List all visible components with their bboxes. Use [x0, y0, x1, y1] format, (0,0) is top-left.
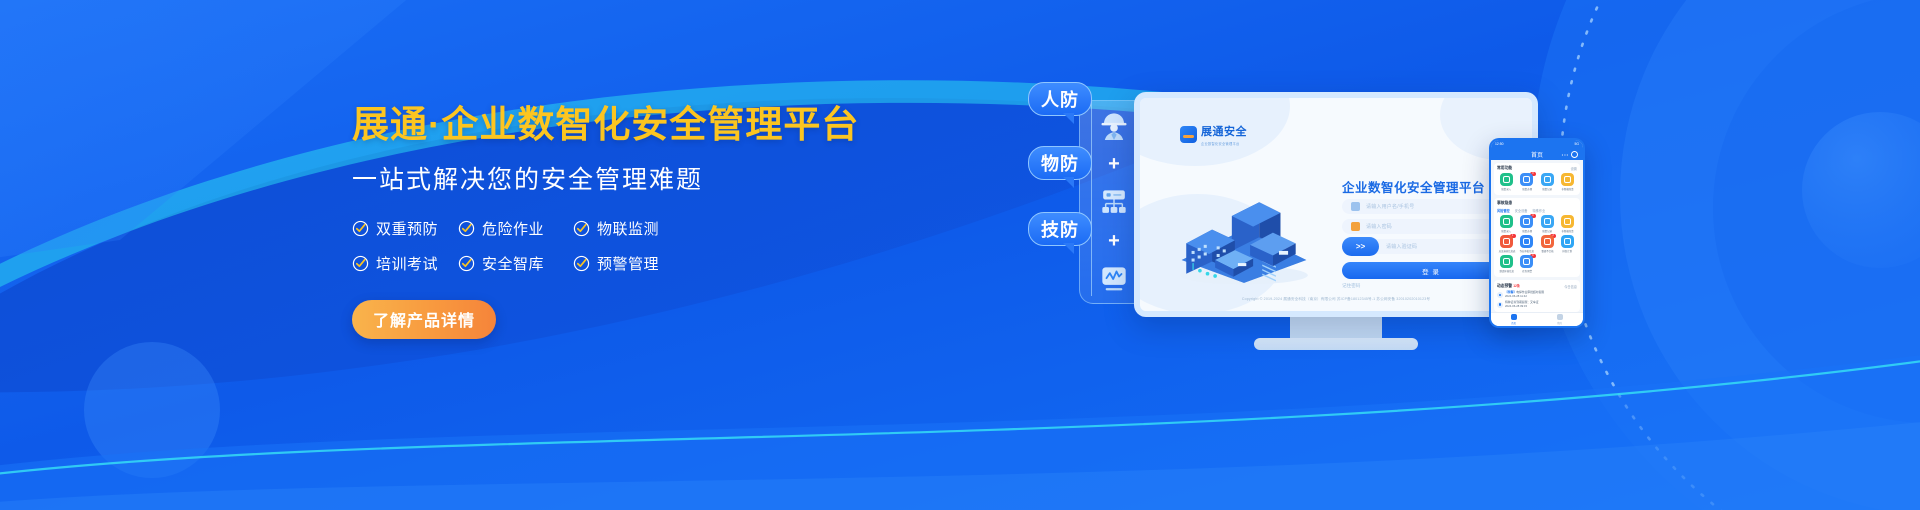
- defence-bubble-label: 人防: [1041, 86, 1079, 112]
- app-icon-label: 隐患记录: [1542, 229, 1552, 233]
- phone-status-bar: 12:50 5G: [1491, 140, 1583, 148]
- captcha-placeholder: 请输入验证码: [1386, 243, 1417, 250]
- app-icon-glyph: [1520, 255, 1533, 268]
- app-icon-glyph: [1500, 235, 1513, 248]
- user-icon: [1351, 202, 1360, 211]
- app-icon-label: 作业审批信息: [1520, 249, 1534, 253]
- monitor-stand-base: [1254, 338, 1418, 350]
- app-icon-item[interactable]: 非智能隐患: [1558, 215, 1577, 233]
- feature-label: 危险作业: [482, 218, 544, 239]
- home-icon: [1511, 314, 1517, 320]
- app-icon-label: 排查计划: [1563, 249, 1573, 253]
- check-circle-icon: [352, 255, 369, 272]
- app-icon-glyph: [1561, 173, 1574, 186]
- tab-label: 首页: [1512, 321, 1517, 325]
- alert-row[interactable]: 特种证书到期提醒：叉车证 2024-06-28 09:15: [1497, 301, 1577, 309]
- alerts-right-label[interactable]: 今日信息: [1564, 284, 1577, 289]
- gear-icon[interactable]: [1571, 151, 1578, 158]
- app-icon-label: 制造环境信息: [1499, 269, 1513, 273]
- check-circle-icon: [352, 220, 369, 237]
- lock-icon: [1351, 222, 1360, 231]
- background-shapes: [0, 0, 1920, 510]
- app-icon-glyph: [1541, 215, 1554, 228]
- app-icon-glyph: [1520, 215, 1533, 228]
- monitor-screen: 展通安全 企业数智化安全管理平台: [1140, 98, 1532, 311]
- defence-bubble-wufang[interactable]: 物防: [1028, 146, 1092, 180]
- app-icon-item[interactable]: 9 任务预警: [1517, 255, 1536, 273]
- login-logo: 展通安全 企业数智化安全管理平台: [1180, 122, 1247, 146]
- feature-label: 安全智库: [482, 253, 544, 274]
- section-title: 常用功能: [1497, 166, 1512, 171]
- logo-text: 展通安全: [1201, 126, 1247, 138]
- feature-item: 危险作业: [458, 218, 573, 239]
- logo-mark-icon: [1180, 126, 1197, 143]
- monitoring-wave-icon: [1097, 264, 1131, 294]
- learn-more-button[interactable]: 了解产品详情: [352, 300, 496, 339]
- feature-list: 双重预防 危险作业 物联监测: [352, 218, 872, 274]
- app-icon-label: 非智能隐患: [1561, 187, 1573, 191]
- remember-password-link[interactable]: 记住密码: [1342, 283, 1360, 289]
- tab-profile[interactable]: 我的: [1557, 314, 1563, 325]
- phone-section-common: 常用功能 设置 隐患录入 3 隐患办理 隐患记录: [1494, 163, 1580, 195]
- username-placeholder: 请输入用户名/手机号: [1366, 203, 1414, 210]
- app-icon-item[interactable]: 2 整更不合格: [1538, 235, 1557, 253]
- check-circle-icon: [573, 255, 590, 272]
- section-header: 事故隐患: [1497, 201, 1577, 206]
- worker-helmet-icon: [1097, 110, 1131, 140]
- status-time: 12:50: [1495, 142, 1504, 146]
- logo-subtext: 企业数智化安全管理平台: [1201, 141, 1245, 146]
- app-icon-item[interactable]: 3 隐患办理: [1517, 173, 1536, 191]
- defence-bubble-label: 技防: [1041, 216, 1079, 242]
- alert-dot-icon: [1497, 302, 1503, 308]
- app-icon-glyph: [1561, 235, 1574, 248]
- alert-row[interactable]: 【预警】电焊作业审批超时提醒 2024-06-28 11:42: [1497, 291, 1577, 299]
- tab-item[interactable]: 安全设备: [1515, 208, 1528, 213]
- app-icon-label: 整更不合格: [1541, 249, 1553, 253]
- feature-label: 预警管理: [597, 253, 659, 274]
- hero-banner: 展通·企业数智化安全管理平台 一站式解决您的安全管理难题 双重预防 危险作业: [0, 0, 1920, 510]
- phone-tab-bar: 首页 我的: [1491, 312, 1583, 326]
- app-icon-item[interactable]: 隐患录入: [1497, 215, 1516, 233]
- phone-nav-bar: 首页 •••: [1491, 148, 1583, 160]
- app-icon-label: 隐患录入: [1502, 229, 1512, 233]
- app-icon-glyph: [1520, 173, 1533, 186]
- app-icon-glyph: [1500, 255, 1513, 268]
- phone-nav-title: 首页: [1531, 150, 1543, 159]
- app-icon-item[interactable]: 3 隐患办理: [1517, 215, 1536, 233]
- defence-bubble-renfang[interactable]: 人防: [1028, 82, 1092, 116]
- app-icon-item[interactable]: 作业审批信息: [1517, 235, 1536, 253]
- app-icon-label: 应急演练信息表: [1498, 249, 1515, 253]
- app-icon-label: 隐患记录: [1542, 187, 1552, 191]
- check-circle-icon: [573, 220, 590, 237]
- app-icon-glyph: [1500, 215, 1513, 228]
- alerts-badge: 12条: [1513, 284, 1520, 288]
- status-signal: 5G: [1574, 142, 1579, 146]
- app-icon-item[interactable]: 排查计划: [1558, 235, 1577, 253]
- app-icon-grid: 隐患录入 3 隐患办理 隐患记录 非智能隐患: [1497, 173, 1577, 191]
- tab-item[interactable]: 风险管控: [1497, 208, 1510, 213]
- app-icon-label: 隐患办理: [1522, 229, 1532, 233]
- app-icon-glyph: [1561, 215, 1574, 228]
- page-subtitle: 一站式解决您的安全管理难题: [352, 160, 872, 196]
- tab-label: 我的: [1558, 321, 1563, 325]
- isometric-buildings-illustration: [1168, 190, 1320, 286]
- app-icon-item[interactable]: 制造环境信息: [1497, 255, 1516, 273]
- defence-plus: +: [1108, 231, 1120, 251]
- app-icon-item[interactable]: 非智能隐患: [1558, 173, 1577, 191]
- app-icon-label: 隐患录入: [1502, 187, 1512, 191]
- check-circle-icon: [458, 255, 475, 272]
- section-title: 事故隐患: [1497, 201, 1512, 206]
- feature-item: 培训考试: [352, 253, 458, 274]
- background-decoration: [0, 0, 1920, 510]
- feature-label: 物联监测: [597, 218, 659, 239]
- password-placeholder: 请输入密码: [1366, 223, 1392, 230]
- app-icon-glyph: [1541, 173, 1554, 186]
- phone-screen: 12:50 5G 首页 ••• 常用功能 设置 隐患录入: [1491, 140, 1583, 326]
- section-header: 常用功能 设置: [1497, 166, 1577, 171]
- captcha-slider-button[interactable]: >>: [1342, 237, 1379, 256]
- more-dots-icon[interactable]: •••: [1562, 152, 1569, 157]
- login-copyright: Copyright © 2019-2024 展通安全科技（南京）有限公司 苏IC…: [1140, 297, 1532, 302]
- hero-copy: 展通·企业数智化安全管理平台 一站式解决您的安全管理难题 双重预防 危险作业: [352, 104, 872, 339]
- app-icon-item[interactable]: 隐患录入: [1497, 173, 1516, 191]
- app-icon-item[interactable]: 隐患记录: [1538, 173, 1557, 191]
- feature-item: 双重预防: [352, 218, 458, 239]
- tab-home[interactable]: 首页: [1511, 314, 1517, 325]
- app-icon-glyph: [1520, 235, 1533, 248]
- alert-time: 2024-06-28 09:15: [1505, 304, 1527, 308]
- app-icon-grid: 隐患录入 3 隐患办理 隐患记录 非智能隐患: [1497, 215, 1577, 273]
- page-title: 展通·企业数智化安全管理平台: [352, 104, 872, 147]
- server-network-icon: [1097, 187, 1131, 217]
- phone-section-hazards: 事故隐患 风险管控 安全设备 特殊作业 隐患录入 3 隐患办理: [1494, 198, 1580, 277]
- login-title: 企业数智化安全管理平台: [1342, 177, 1485, 196]
- section-tabs: 风险管控 安全设备 特殊作业: [1497, 208, 1577, 213]
- feature-item: 物联监测: [573, 218, 688, 239]
- alert-time: 2024-06-28 11:42: [1505, 294, 1527, 298]
- feature-label: 培训考试: [376, 253, 438, 274]
- app-icon-item[interactable]: 隐患记录: [1538, 215, 1557, 233]
- section-action[interactable]: 设置: [1571, 166, 1577, 171]
- feature-item: 预警管理: [573, 253, 688, 274]
- defence-bubble-label: 物防: [1041, 150, 1079, 176]
- defence-bubble-jifang[interactable]: 技防: [1028, 212, 1092, 246]
- app-icon-label: 隐患办理: [1522, 187, 1532, 191]
- feature-item: 安全智库: [458, 253, 573, 274]
- phone-alerts-card: 动态预警 12条 今日信息 【预警】电焊作业审批超时提醒 2024-06-28 …: [1494, 280, 1580, 312]
- defence-plus: +: [1108, 154, 1120, 174]
- feature-label: 双重预防: [376, 218, 438, 239]
- mobile-phone-mockup: 12:50 5G 首页 ••• 常用功能 设置 隐患录入: [1489, 138, 1585, 328]
- app-icon-glyph: [1541, 235, 1554, 248]
- desktop-monitor: 展通安全 企业数智化安全管理平台: [1134, 92, 1538, 317]
- user-icon: [1557, 314, 1563, 320]
- tab-item[interactable]: 特殊作业: [1533, 208, 1546, 213]
- app-icon-item[interactable]: 1 应急演练信息表: [1497, 235, 1516, 253]
- app-icon-glyph: [1500, 173, 1513, 186]
- check-circle-icon: [458, 220, 475, 237]
- alerts-header: 动态预警 12条 今日信息: [1497, 283, 1577, 289]
- alert-dot-icon: [1497, 292, 1503, 298]
- app-icon-label: 任务预警: [1522, 269, 1532, 273]
- alerts-title: 动态预警: [1497, 284, 1512, 288]
- app-icon-label: 非智能隐患: [1561, 229, 1573, 233]
